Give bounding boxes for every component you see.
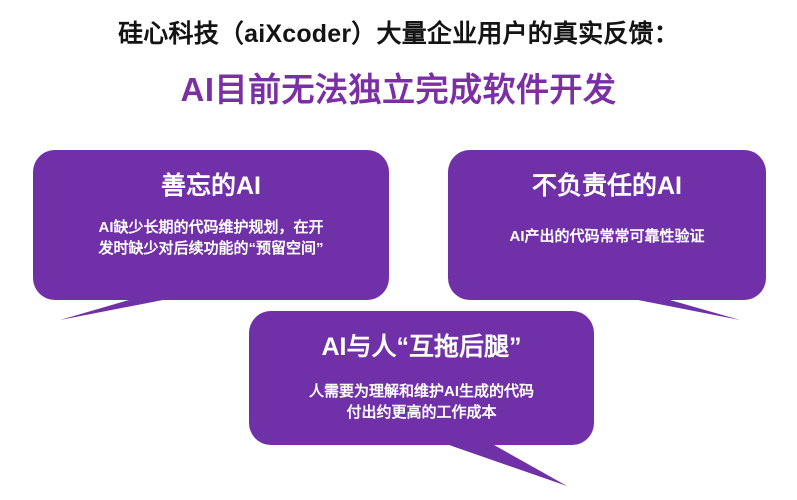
speech-bubble-body-line: AI缺少长期的代码维护规划，在开 [59,217,363,238]
speech-bubble-title: 不负责任的AI [448,172,766,201]
speech-bubble-title: AI与人“互拖后腿” [249,333,594,362]
speech-bubble-title: 善忘的AI [33,172,389,201]
infographic-slide: 硅心科技（aiXcoder）大量企业用户的真实反馈： AI目前无法独立完成软件开… [0,0,797,500]
speech-bubble-body-line: 人需要为理解和维护AI生成的代码 [267,381,576,402]
page-subtitle: AI目前无法独立完成软件开发 [0,63,797,111]
page-title: 硅心科技（aiXcoder）大量企业用户的真实反馈： [0,14,797,50]
speech-bubble-body-line: AI产出的代码常常可靠性验证 [466,226,748,247]
speech-bubble-body-line: 付出约更高的工作成本 [267,402,576,423]
speech-bubble-content: AI与人“互拖后腿” 人需要为理解和维护AI生成的代码 付出约更高的工作成本 [249,311,594,423]
speech-bubble-content: 善忘的AI AI缺少长期的代码维护规划，在开 发时缺少对后续功能的“预留空间” [33,150,389,259]
speech-bubble-irresponsible-ai[interactable]: 不负责任的AI AI产出的代码常常可靠性验证 [448,150,766,322]
speech-bubble-forgetful-ai[interactable]: 善忘的AI AI缺少长期的代码维护规划，在开 发时缺少对后续功能的“预留空间” [33,150,389,322]
speech-bubble-content: 不负责任的AI AI产出的代码常常可靠性验证 [448,150,766,247]
speech-bubble-body-line: 发时缺少对后续功能的“预留空间” [59,238,363,259]
speech-bubble-mutual-drag[interactable]: AI与人“互拖后腿” 人需要为理解和维护AI生成的代码 付出约更高的工作成本 [249,311,594,488]
speech-bubble-body: 人需要为理解和维护AI生成的代码 付出约更高的工作成本 [249,381,594,424]
speech-bubble-body: AI缺少长期的代码维护规划，在开 发时缺少对后续功能的“预留空间” [33,217,389,260]
speech-bubble-body: AI产出的代码常常可靠性验证 [448,226,766,247]
